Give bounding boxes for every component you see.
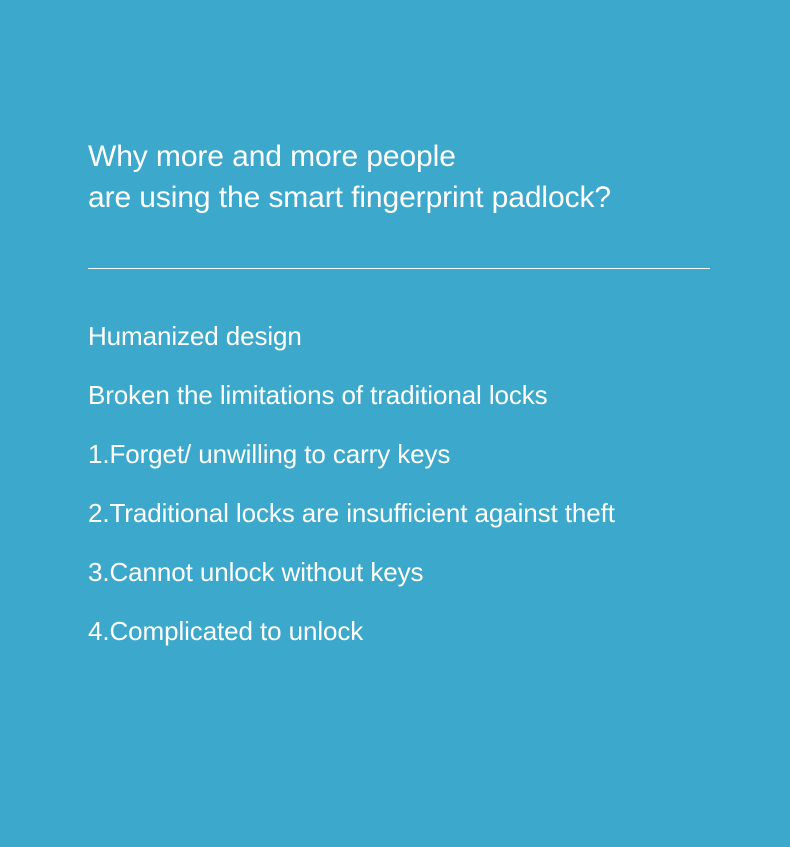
list-item: 2.Traditional locks are insufficient aga… xyxy=(88,496,748,555)
list-item: 1.Forget/ unwilling to carry keys xyxy=(88,437,748,496)
page-title-line-1: Why more and more people xyxy=(88,136,748,177)
promo-panel: Why more and more people are using the s… xyxy=(0,0,790,847)
horizontal-divider xyxy=(88,268,710,269)
list-item: 4.Complicated to unlock xyxy=(88,614,748,673)
benefits-list: Humanized design Broken the limitations … xyxy=(88,319,748,673)
list-item: Broken the limitations of traditional lo… xyxy=(88,378,748,437)
list-item: Humanized design xyxy=(88,319,748,378)
page-title: Why more and more people are using the s… xyxy=(88,136,748,218)
page-title-line-2: are using the smart fingerprint padlock? xyxy=(88,177,748,218)
list-item: 3.Cannot unlock without keys xyxy=(88,555,748,614)
